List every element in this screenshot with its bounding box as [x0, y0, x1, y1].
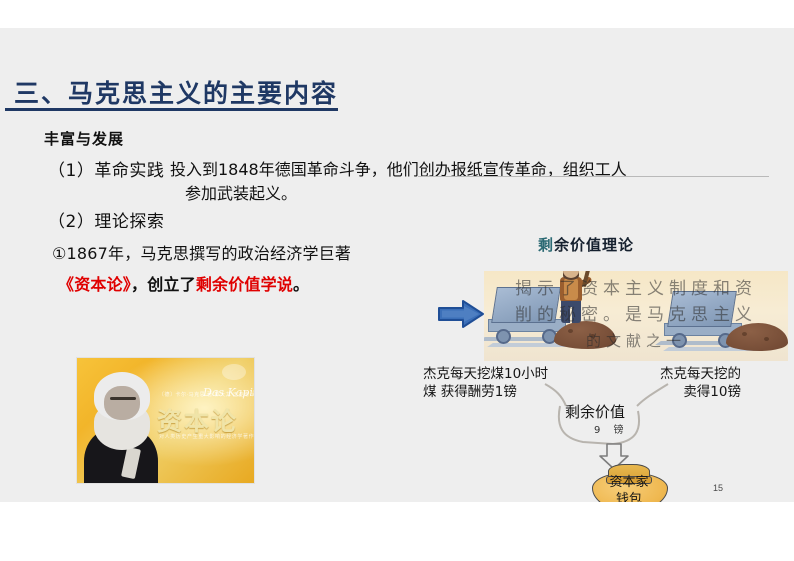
- money-bag-label-line-2: 钱包: [586, 491, 672, 502]
- dirt-spot: [764, 337, 769, 341]
- money-bag-label: 资本家 钱包: [586, 474, 672, 502]
- miner-figure: [552, 271, 594, 325]
- caption-right-line-2: 卖得10镑: [660, 383, 741, 401]
- money-bag-illustration: 资本家 钱包: [586, 460, 672, 502]
- book-script-title: Das Kapital: [203, 386, 254, 399]
- mining-scene-image: 揭示了资本主义制度和资 削的秘密。是马克思主义 的文献之一: [484, 271, 788, 361]
- diagram-title-rest: 余价值理论: [554, 236, 634, 254]
- cart-wheel: [672, 333, 687, 348]
- dirt-spot: [568, 329, 573, 333]
- marx-portrait: [82, 366, 160, 483]
- slide-canvas: 三、马克思主义的主要内容 丰富与发展 （1）革命实践 投入到1848年德国革命斗…: [0, 28, 794, 502]
- bullet-2-item-2: 《资本论》，创立了剩余价值学说。: [58, 271, 309, 295]
- caption-left-line-1: 杰克每天挖煤10小时: [423, 365, 548, 383]
- miner-vest-shape: [564, 278, 578, 300]
- caption-right-line-1: 杰克每天挖的: [660, 365, 741, 383]
- money-bag-label-line-1: 资本家: [586, 474, 672, 491]
- caption-surplus-value: 剩余价值: [565, 401, 625, 422]
- caption-left-line-2: 煤 获得酬劳1镑: [423, 383, 548, 401]
- cart-wheel: [496, 329, 511, 344]
- page-title: 三、马克思主义的主要内容: [14, 74, 338, 110]
- right-arrow-icon: [437, 298, 485, 330]
- caption-right: 杰克每天挖的 卖得10镑: [660, 365, 741, 401]
- surplus-value-theory-text: 剩余价值学说: [196, 275, 293, 294]
- bullet-2-item-1: ①1867年，马克思撰写的政治经济学巨著: [52, 240, 351, 264]
- book-blurb-line: 对人类历史产生重大影响的经济学著作: [159, 433, 254, 440]
- page-number: 15: [713, 483, 723, 493]
- bullet-2-label: （2）理论探索: [48, 207, 164, 232]
- marx-face-shape: [104, 386, 140, 420]
- bullet-1-text-continued: 参加武装起义。: [185, 180, 297, 204]
- connector-text: ，创立了: [131, 275, 196, 294]
- diagram-title-first-char: 剩: [538, 236, 554, 254]
- das-kapital-book-cover-image: 〔德〕卡尔·马克思 著 郭大力 王亚南 译 Das Kapital 资本论 对人…: [77, 358, 254, 483]
- bullet-1-text-underline: [418, 176, 769, 177]
- cart-body-shape: [667, 291, 737, 327]
- caption-left: 杰克每天挖煤10小时 煤 获得酬劳1镑: [423, 365, 548, 401]
- book-seal-badge: [222, 364, 246, 380]
- dirt-spot: [590, 334, 595, 338]
- dirt-spot: [742, 332, 747, 336]
- title-underline-divider: [5, 108, 338, 111]
- diagram-title: 剩余价值理论: [538, 234, 634, 255]
- miner-leg-split-shape: [570, 307, 572, 323]
- cart-body-shape: [491, 287, 561, 323]
- marx-eyes-shape: [110, 397, 136, 400]
- caption-surplus-value-amount: 9 镑: [594, 421, 629, 436]
- bullet-1-label: （1）革命实践: [48, 156, 164, 181]
- period-text: 。: [293, 275, 309, 294]
- das-kapital-title: 《资本论》: [58, 275, 131, 294]
- section-subtitle: 丰富与发展: [44, 128, 124, 149]
